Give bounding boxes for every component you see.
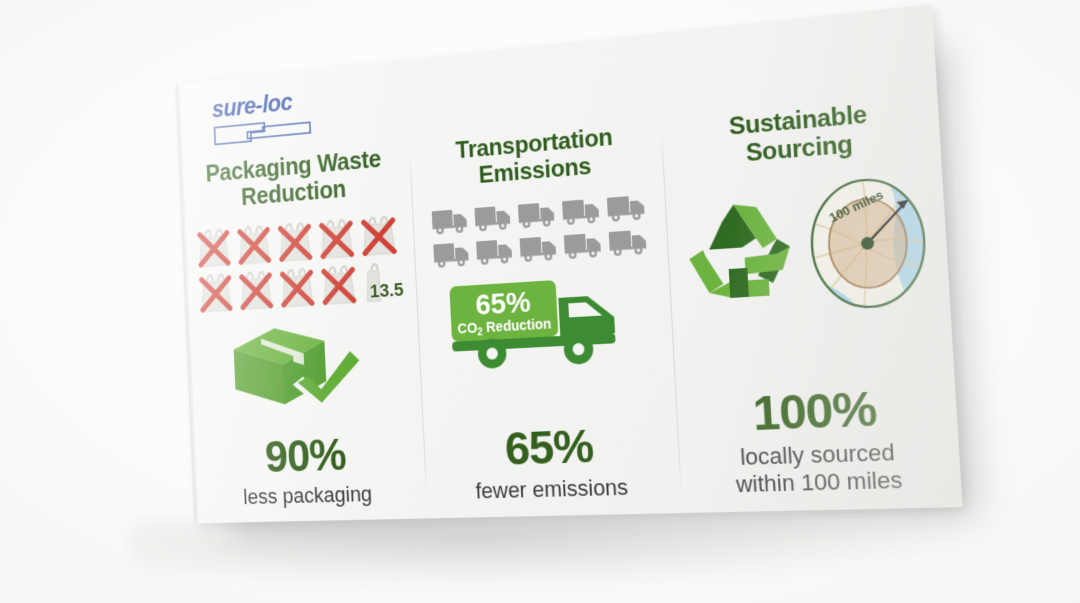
truck-cell — [559, 194, 602, 227]
truck-cell — [604, 190, 648, 224]
bag-cell — [316, 215, 357, 262]
bag-cell — [318, 262, 359, 309]
box-with-check-icon — [226, 313, 378, 412]
truck-cell — [431, 238, 472, 270]
stat-label: fewer emissions — [475, 474, 629, 503]
delivery-truck-icon — [517, 231, 560, 264]
stat-label: less packaging — [243, 481, 373, 509]
transportation-visual: 65% CO2 Reduction — [429, 190, 656, 375]
stat-number: 100% — [752, 384, 878, 438]
packaging-stat: 90% less packaging — [241, 430, 374, 523]
truck-cell — [474, 235, 516, 267]
delivery-truck-icon — [606, 225, 650, 258]
truck-cell — [606, 225, 650, 258]
red-x-icon — [236, 226, 272, 266]
delivery-truck-icon — [431, 238, 472, 270]
column-title: Sustainable Sourcing — [728, 102, 869, 170]
truck-cell — [517, 231, 560, 264]
red-x-icon — [196, 229, 232, 269]
truck-cell — [472, 201, 514, 234]
truck-cell — [515, 197, 558, 230]
red-x-icon — [279, 268, 316, 308]
sourcing-stat: 100% locally sourced within 100 miles — [731, 383, 904, 512]
column-sustainable-sourcing: Sustainable Sourcing — [662, 95, 963, 513]
sourcing-visual: 100 miles — [679, 169, 936, 323]
red-x-icon — [318, 219, 355, 260]
packaging-visual: 13.5 — [195, 212, 408, 413]
bag-cell — [236, 267, 276, 313]
bag-cell — [234, 222, 274, 268]
column-packaging-waste-reduction: Packaging Waste Reduction — [179, 143, 427, 523]
delivery-truck-icon — [561, 228, 605, 261]
perspective-stage: sure-loc Packaging Waste Reduction — [0, 0, 1080, 603]
delivery-truck-icon — [472, 201, 514, 234]
green-delivery-truck-icon: 65% CO2 Reduction — [447, 273, 640, 375]
map-radius-circle-icon: 100 miles — [800, 169, 935, 317]
bag-cell-partial: 13.5 — [360, 259, 402, 306]
delivery-truck-icon — [429, 204, 470, 236]
sourcing-visual-wrap: 100 miles — [679, 169, 936, 332]
plastic-bag-grid: 13.5 — [195, 212, 403, 316]
bag-count-label: 13.5 — [369, 280, 404, 303]
bag-cell — [195, 225, 234, 271]
bag-cell — [275, 219, 316, 266]
red-x-icon — [238, 271, 274, 311]
stat-number: 90% — [264, 431, 347, 479]
delivery-truck-icon — [604, 190, 648, 224]
infographic-card: sure-loc Packaging Waste Reduction — [175, 4, 962, 523]
bag-cell — [277, 264, 318, 310]
bag-cell — [196, 270, 235, 316]
red-x-icon — [360, 216, 398, 257]
column-title: Transportation Emissions — [455, 125, 614, 192]
truck-cell — [561, 228, 605, 261]
red-x-icon — [320, 266, 357, 307]
red-x-icon — [198, 274, 234, 314]
transportation-stat: 65% fewer emissions — [472, 420, 629, 517]
stat-label: locally sourced within 100 miles — [734, 439, 903, 497]
truck-cell — [429, 204, 470, 236]
column-title: Packaging Waste Reduction — [205, 146, 383, 214]
delivery-truck-grid — [429, 190, 650, 269]
columns-container: Packaging Waste Reduction — [179, 95, 963, 523]
brand-logo[interactable]: sure-loc — [212, 87, 327, 150]
recycling-symbol-icon — [680, 191, 802, 310]
delivery-truck-icon — [515, 197, 558, 230]
stat-number: 65% — [504, 421, 594, 471]
bag-cell — [358, 212, 400, 259]
red-x-icon — [277, 223, 314, 264]
delivery-truck-icon — [474, 235, 516, 267]
column-transportation-emissions: Transportation Emissions — [410, 120, 683, 518]
delivery-truck-icon — [559, 194, 602, 227]
green-truck-percent: 65% — [475, 286, 532, 322]
